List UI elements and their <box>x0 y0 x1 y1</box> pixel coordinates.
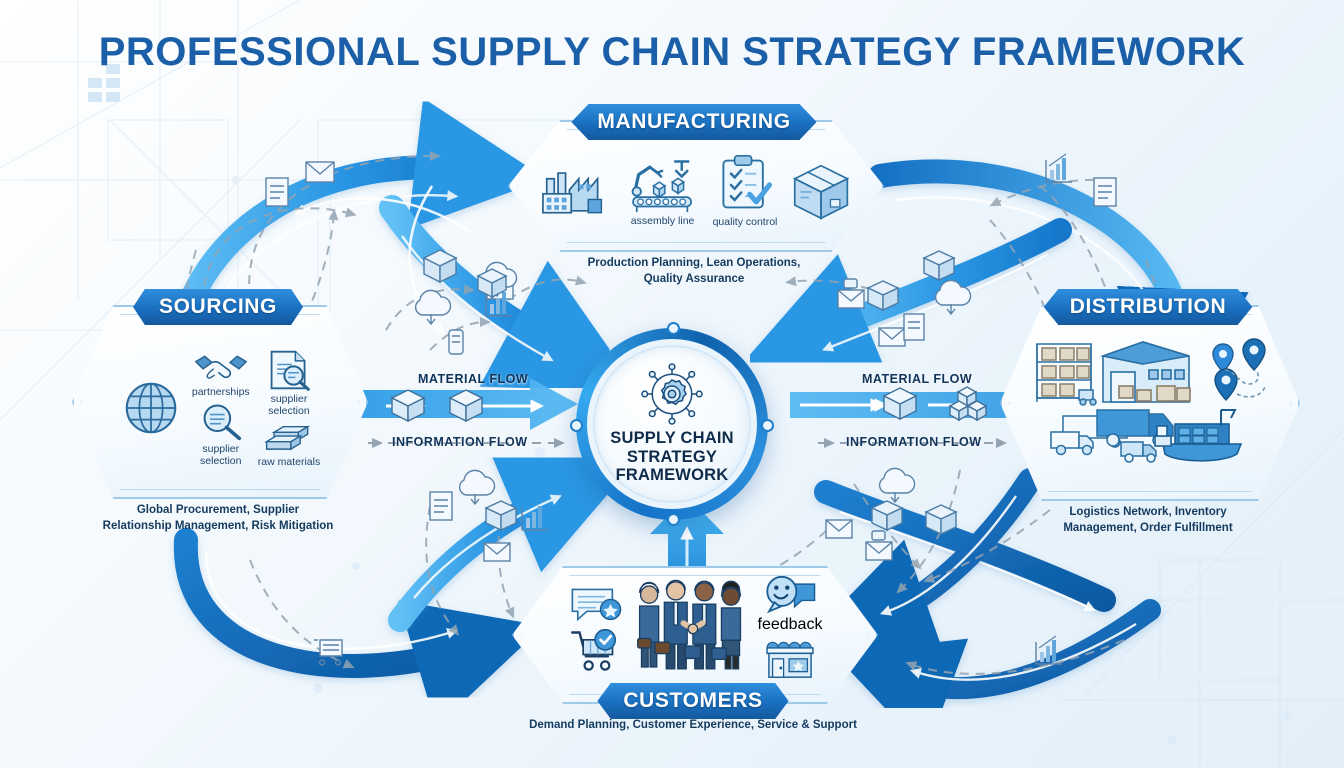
sourcing-caption-supplier-selection-2: supplier selection <box>200 443 241 467</box>
sourcing-caption-supplier-selection-1: supplier selection <box>268 393 309 417</box>
information-flow-label-right: INFORMATION FLOW <box>846 435 982 449</box>
material-flow-label-right: MATERIAL FLOW <box>862 372 972 386</box>
sourcing-icon-globe <box>120 377 182 439</box>
handshake-icon <box>192 349 250 385</box>
globe-icon <box>120 377 182 439</box>
diagram-canvas: PROFESSIONAL SUPPLY CHAIN STRATEGY FRAME… <box>0 0 1344 768</box>
storefront-icon <box>761 635 819 679</box>
stacked-boxes-icon <box>950 387 986 420</box>
node-distribution[interactable]: DISTRIBUTION Logistics Network, Inventor… <box>1000 305 1296 501</box>
node-manufacturing[interactable]: assembly line quality control <box>508 120 880 252</box>
sourcing-caption-raw-materials: raw materials <box>258 456 320 468</box>
sourcing-icon-magnifier: supplier selection <box>192 400 250 467</box>
page-title: PROFESSIONAL SUPPLY CHAIN STRATEGY FRAME… <box>0 30 1344 75</box>
magnifier-icon <box>195 400 247 442</box>
cargo-ship-icon <box>1155 410 1241 461</box>
distribution-hex-body <box>1000 305 1300 501</box>
factory-icon <box>537 158 613 224</box>
sourcing-icon-document-search: supplier selection <box>258 348 320 417</box>
manufacturing-badge[interactable]: MANUFACTURING <box>571 104 816 140</box>
package-box-icon <box>884 388 916 419</box>
location-pin-route-icon <box>1213 339 1265 400</box>
node-sourcing[interactable]: partnerships supplier selection <box>72 305 364 499</box>
manufacturing-caption-quality-control: quality control <box>713 216 778 228</box>
hub-connector-dot-left <box>570 419 583 432</box>
raw-materials-icon <box>261 419 317 455</box>
shopping-cart-check-icon <box>568 627 624 671</box>
hub-inner-circle: SUPPLY CHAIN STRATEGY FRAMEWORK <box>593 345 751 503</box>
package-box-icon <box>789 160 855 222</box>
sourcing-caption-partnerships: partnerships <box>192 386 250 398</box>
manufacturing-icon-package <box>789 160 855 222</box>
customers-caption-feedback: feedback <box>758 616 823 634</box>
distribution-badge[interactable]: DISTRIBUTION <box>1044 289 1253 325</box>
hub-connector-dot-bottom <box>667 513 680 526</box>
distribution-illustration <box>1025 328 1275 488</box>
document-search-icon <box>264 348 314 392</box>
package-box-icon <box>392 390 424 421</box>
hub-label: SUPPLY CHAIN STRATEGY FRAMEWORK <box>610 429 733 484</box>
central-hub[interactable]: SUPPLY CHAIN STRATEGY FRAMEWORK <box>576 328 768 520</box>
distribution-subtitle: Logistics Network, Inventory Management,… <box>998 505 1298 536</box>
hub-connector-dot-top <box>667 322 680 335</box>
sourcing-subtitle: Global Procurement, Supplier Relationshi… <box>68 503 368 534</box>
sourcing-icon-raw-materials: raw materials <box>258 419 320 468</box>
package-box-icon <box>450 390 482 421</box>
warehouse-rack-icon <box>1037 344 1096 405</box>
smiley-chat-icon <box>761 575 819 615</box>
manufacturing-caption-assembly-line: assembly line <box>631 215 695 227</box>
manufacturing-icon-factory <box>537 158 613 224</box>
warehouse-building-icon <box>1103 342 1190 402</box>
gear-network-icon <box>641 363 703 425</box>
sourcing-icon-handshake: partnerships <box>192 349 250 398</box>
sourcing-badge[interactable]: SOURCING <box>133 289 303 325</box>
customers-badge[interactable]: CUSTOMERS <box>597 683 788 719</box>
hub-connector-dot-right <box>761 419 774 432</box>
robot-arm-conveyor-icon <box>625 154 701 214</box>
clipboard-check-icon <box>713 153 777 215</box>
manufacturing-subtitle: Production Planning, Lean Operations, Qu… <box>544 256 844 287</box>
manufacturing-icon-assembly-line: assembly line <box>625 154 701 227</box>
manufacturing-icon-quality-control: quality control <box>713 153 778 228</box>
information-flow-label-left: INFORMATION FLOW <box>392 435 528 449</box>
material-flow-label-left: MATERIAL FLOW <box>418 372 528 386</box>
customers-subtitle: Demand Planning, Customer Experience, Se… <box>483 718 903 734</box>
chat-review-icon <box>568 584 624 624</box>
node-customers[interactable]: feedback <box>512 566 874 704</box>
sourcing-hex-body: partnerships supplier selection <box>72 305 368 499</box>
people-handshake-icon <box>632 579 750 675</box>
